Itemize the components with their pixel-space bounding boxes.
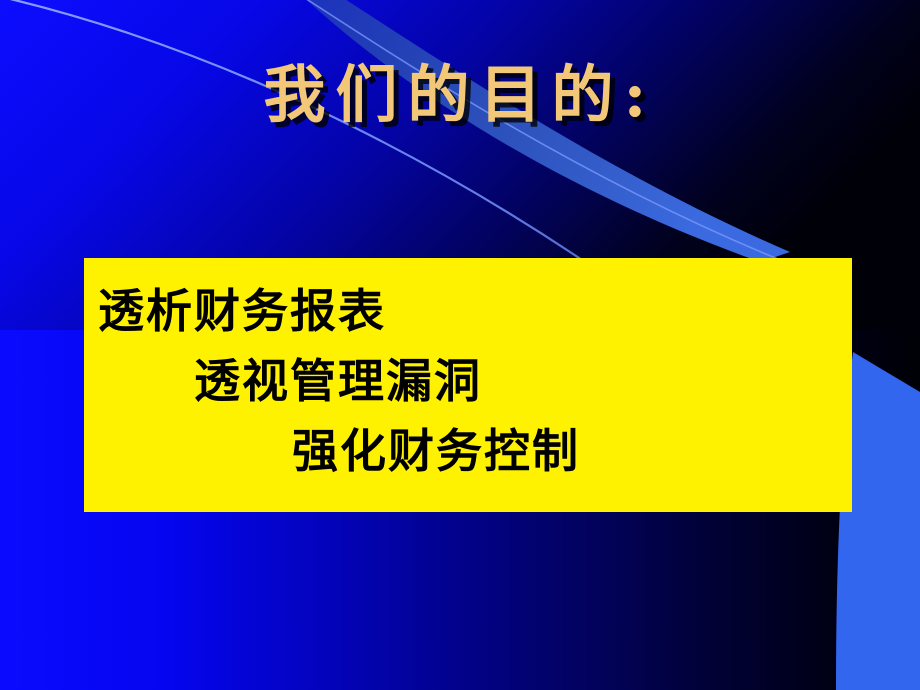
content-line-2: 透视管理漏洞 <box>84 346 852 416</box>
content-line-3: 强化财务控制 <box>84 416 852 486</box>
slide-title: 我们的目的: <box>0 62 920 127</box>
content-line-1: 透析财务报表 <box>84 276 852 346</box>
presentation-slide: 我们的目的: 透析财务报表 透视管理漏洞 强化财务控制 <box>0 0 920 690</box>
content-box: 透析财务报表 透视管理漏洞 强化财务控制 <box>84 258 852 512</box>
